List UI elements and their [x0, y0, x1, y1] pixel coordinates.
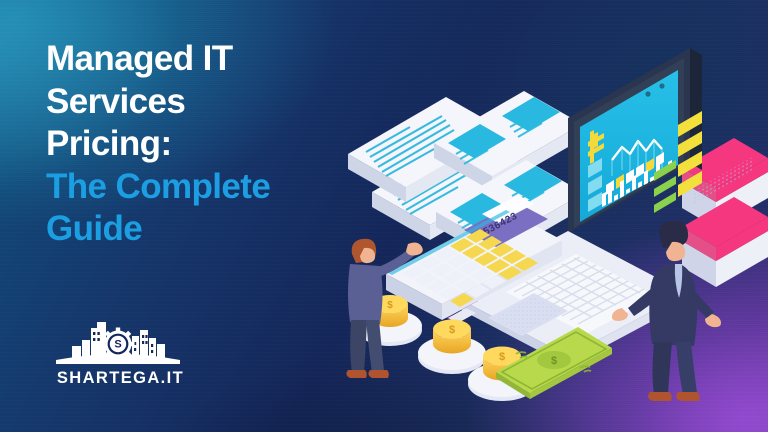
headline-line-3: Pricing: — [46, 123, 376, 166]
coin-stack-2: $ — [418, 320, 486, 375]
svg-text:$: $ — [499, 351, 505, 363]
banknote-dollar-symbol: $ — [551, 355, 557, 367]
screen-left-tiles — [588, 158, 602, 212]
city-skyline-gear-icon: S — [54, 320, 182, 368]
headline-line-2: Services — [46, 81, 376, 124]
headline-line-1: Managed IT — [46, 38, 376, 81]
logo-wordmark: SHARTEGA.IT — [48, 369, 193, 388]
svg-text:S: S — [114, 338, 121, 350]
shartega-it-logo[interactable]: S SHARTEGA.IT — [48, 320, 200, 388]
svg-text:$: $ — [449, 324, 455, 336]
page-title: Managed IT Services Pricing: The Complet… — [46, 38, 376, 251]
managed-it-services-pricing-banner: 1536423 — [0, 0, 768, 432]
svg-text:$: $ — [387, 300, 393, 311]
headline-line-4: The Complete — [46, 166, 376, 209]
isometric-finance-illustration: 1536423 — [330, 42, 768, 414]
headline-line-5: Guide — [46, 208, 376, 251]
